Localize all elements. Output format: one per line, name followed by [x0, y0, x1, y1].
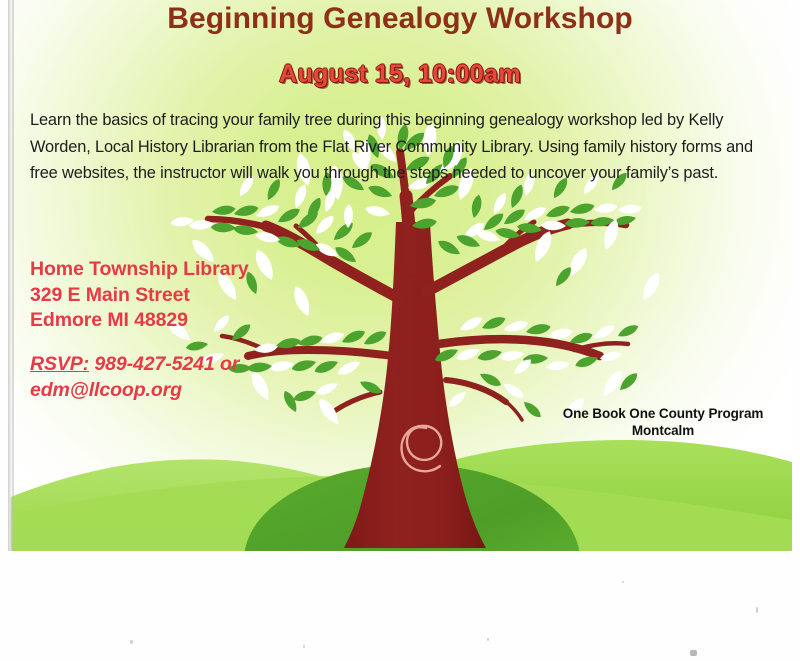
scan-speck: [130, 640, 133, 644]
scanner-bed: Beginning Genealogy Workshop August 15, …: [0, 0, 800, 661]
event-description: Learn the basics of tracing your family …: [30, 107, 772, 187]
venue-name: Home Township Library: [30, 257, 249, 283]
rsvp-phone-line: RSVP: 989-427-5241 or: [30, 352, 239, 378]
rsvp-phone[interactable]: 989-427-5241 or: [89, 353, 239, 375]
rsvp-label: RSVP:: [30, 353, 89, 375]
venue-address: Home Township Library 329 E Main Street …: [30, 257, 249, 334]
venue-city-state-zip: Edmore MI 48829: [30, 308, 249, 334]
program-credit: One Book One County Program Montcalm: [548, 405, 778, 439]
flyer-page: Beginning Genealogy Workshop August 15, …: [8, 0, 792, 551]
scan-speck: [487, 638, 489, 641]
program-credit-line-1: One Book One County Program: [548, 405, 778, 422]
rsvp-email[interactable]: edm@llcoop.org: [30, 378, 239, 404]
page-title: Beginning Genealogy Workshop: [8, 2, 792, 36]
scan-edge-shadow-inner: [12, 0, 14, 551]
rsvp-block: RSVP: 989-427-5241 or edm@llcoop.org: [30, 352, 239, 403]
scan-speck: [690, 650, 697, 656]
scan-speck: [303, 645, 305, 648]
scan-speck: [756, 607, 758, 613]
venue-street: 329 E Main Street: [30, 283, 249, 309]
scan-speck: [622, 581, 624, 583]
program-credit-line-2: Montcalm: [548, 422, 778, 439]
event-date-time: August 15, 10:00am: [8, 60, 792, 89]
